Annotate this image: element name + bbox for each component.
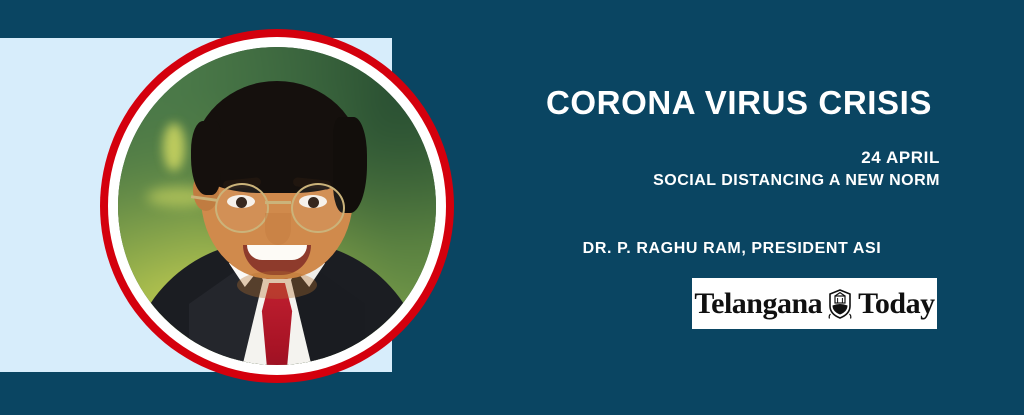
subject-chin-shading bbox=[237, 271, 317, 299]
eyeglasses-lens-left bbox=[215, 183, 269, 233]
logo-word-right: Today bbox=[858, 289, 934, 319]
speaker-name: DR. P. RAGHU RAM, PRESIDENT ASI bbox=[524, 240, 940, 258]
telangana-state-emblem-icon bbox=[826, 289, 854, 319]
page-title: CORONA VIRUS CRISIS bbox=[524, 86, 954, 121]
subject-teeth bbox=[247, 245, 307, 260]
photo-foliage-highlight bbox=[163, 123, 185, 171]
portrait-circle bbox=[100, 29, 454, 383]
event-date: 24 APRIL bbox=[524, 148, 940, 168]
eyeglasses-lens-right bbox=[291, 183, 345, 233]
subject-hair-side-left bbox=[191, 121, 221, 195]
portrait-photo bbox=[118, 47, 436, 365]
logo-word-left: Telangana bbox=[694, 289, 822, 319]
eyeglasses-bridge bbox=[265, 201, 291, 204]
corona-virus-crisis-banner: CORONA VIRUS CRISIS 24 APRIL SOCIAL DIST… bbox=[0, 0, 1024, 415]
telangana-today-logo[interactable]: Telangana Today bbox=[692, 278, 937, 329]
subject-nose bbox=[265, 213, 291, 245]
event-subtitle: SOCIAL DISTANCING A NEW NORM bbox=[524, 172, 940, 190]
